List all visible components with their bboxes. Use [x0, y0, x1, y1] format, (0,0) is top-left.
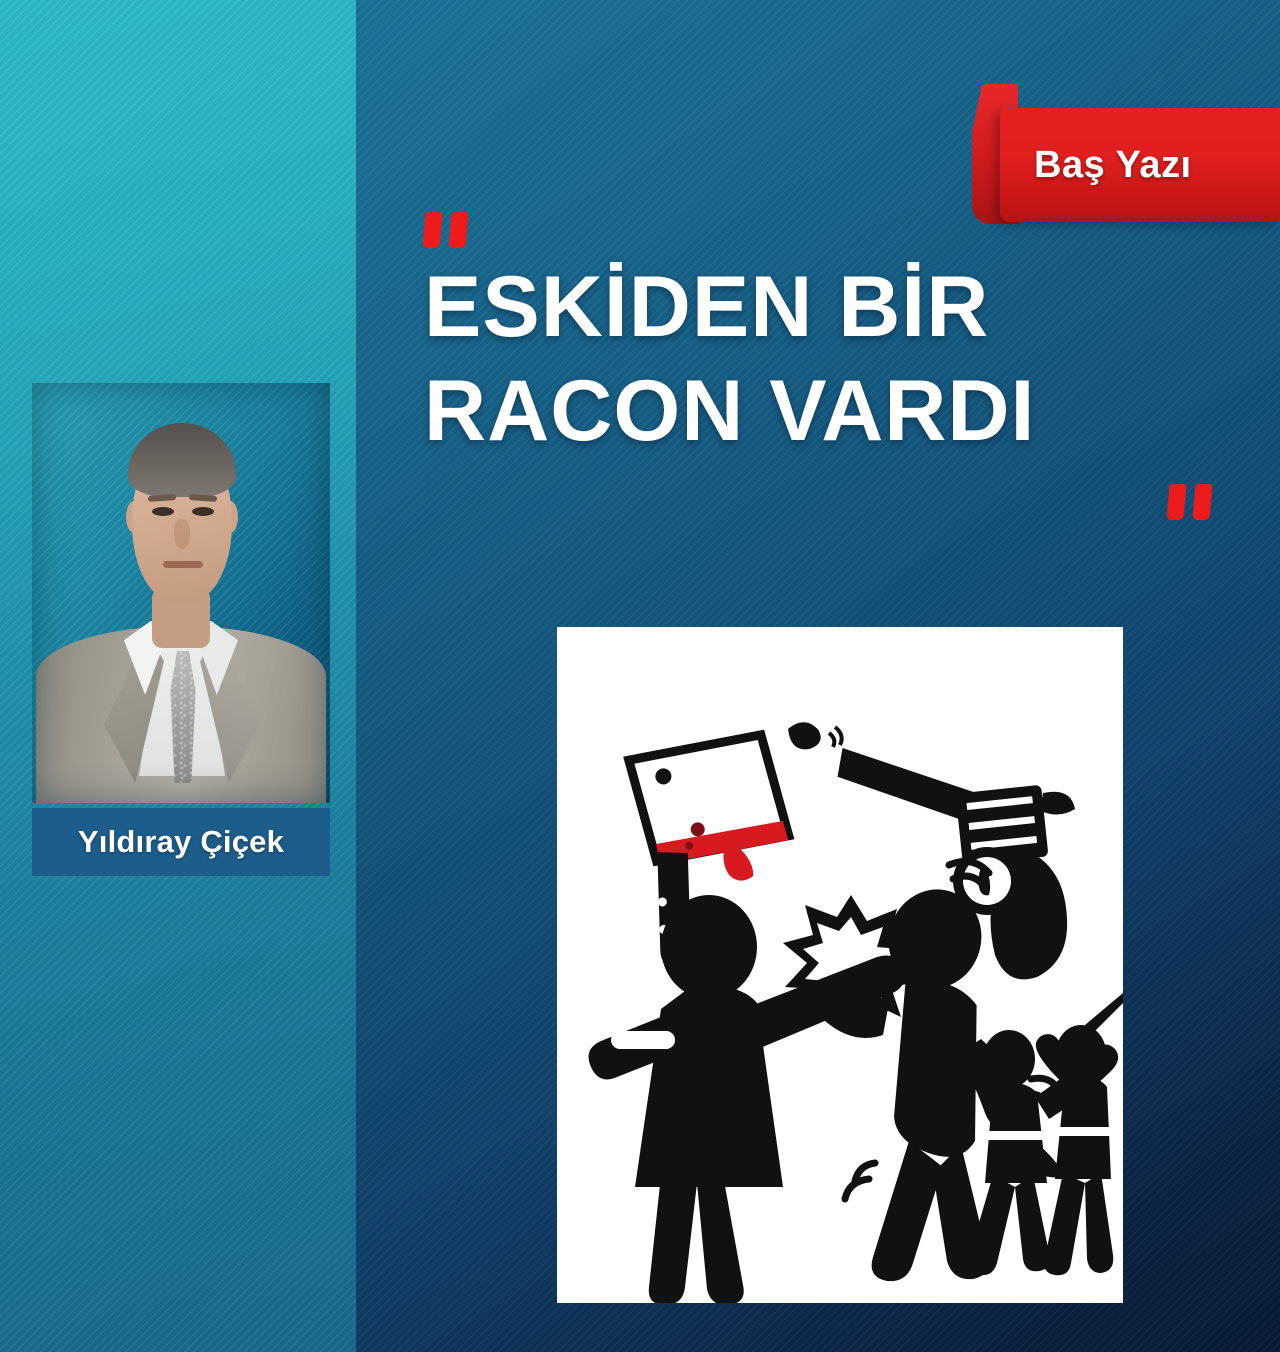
photo-vignette	[32, 383, 330, 803]
quote-mark-bar	[1166, 484, 1186, 520]
category-ribbon[interactable]: Baş Yazı	[972, 84, 1280, 224]
author-photo-inner	[32, 383, 330, 803]
author-photo: Yıldıray Çiçek portresi	[32, 383, 330, 803]
ribbon-label: Baş Yazı	[1000, 144, 1192, 187]
quote-close-icon	[1168, 484, 1211, 520]
quote-mark-bar	[1192, 484, 1212, 520]
headline-line-2: RACON VARDI	[424, 359, 1224, 463]
violence-illustration-svg	[557, 627, 1123, 1303]
article-poster: Yıldıray Çiçek portresi Yıldıray Çiçek B…	[0, 0, 1280, 1352]
headline-line-1: ESKİDEN BİR	[424, 255, 1224, 359]
article-illustration: Şiddet temalı siyah beyaz çizim	[557, 627, 1123, 1303]
quote-mark-bar	[448, 212, 468, 248]
quote-mark-bar	[422, 212, 442, 248]
quote-open-icon	[424, 212, 467, 248]
author-name-label: Yıldıray Çiçek	[78, 824, 284, 860]
ribbon-body: Baş Yazı	[1000, 108, 1280, 222]
headline: ESKİDEN BİR RACON VARDI	[424, 255, 1224, 463]
author-name-bar: Yıldıray Çiçek	[32, 808, 330, 876]
